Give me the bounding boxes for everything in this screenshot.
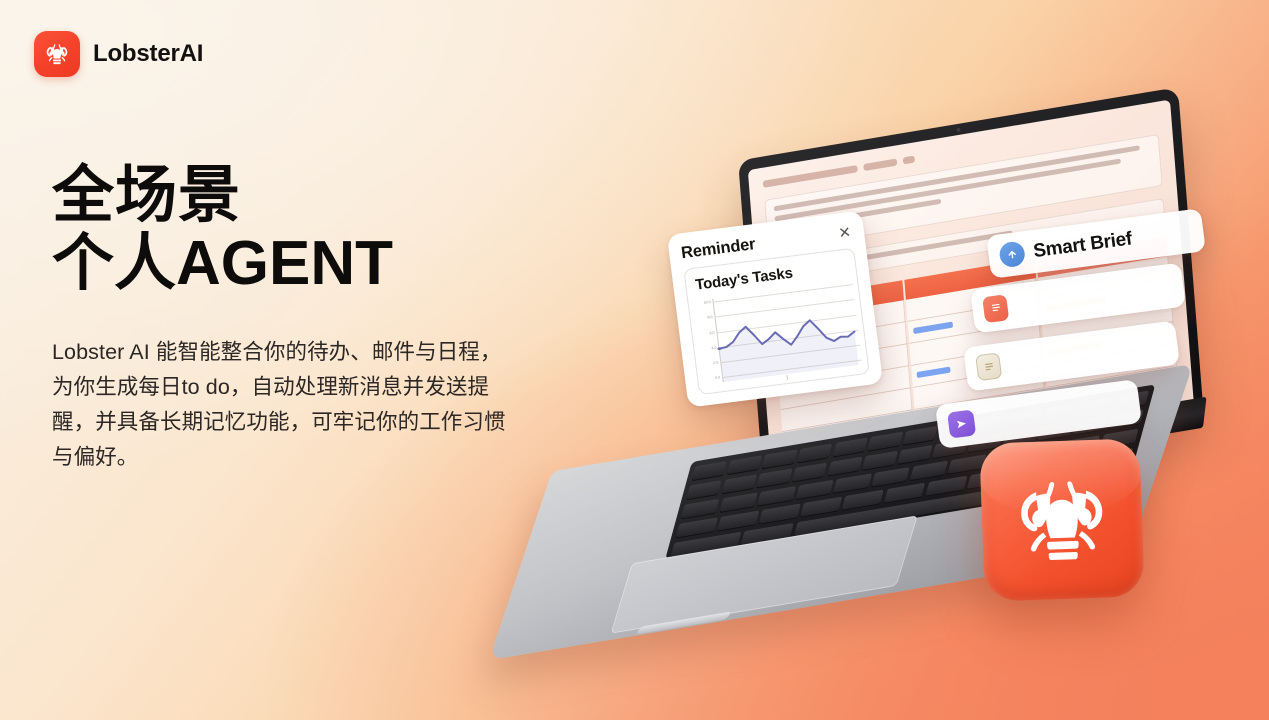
chart-panel: Today's Tasks 10.0 8.0 6.0 4.0 2.0 0.0 <box>683 248 870 396</box>
upload-circle-icon <box>998 240 1026 268</box>
notification-label: Smart Brief <box>1032 228 1133 263</box>
hero-description: Lobster AI 能智能整合你的待办、邮件与日程，为你生成每日to do，自… <box>52 335 522 474</box>
toolbar-pill <box>763 165 858 188</box>
text-line <box>774 158 1121 221</box>
toolbar-pill <box>863 158 897 171</box>
notification-text-lines <box>1010 344 1163 364</box>
status-badge <box>913 322 953 335</box>
chevron-down-icon <box>903 155 915 164</box>
send-icon <box>947 409 976 438</box>
lobster-icon <box>34 31 80 77</box>
y-tick-label: 6.0 <box>709 330 714 335</box>
y-tick-label: 2.0 <box>713 360 718 365</box>
brand-name: LobsterAI <box>93 40 203 68</box>
status-badge <box>917 366 951 378</box>
reminder-title: Reminder <box>680 235 756 263</box>
chart-series-path <box>713 282 858 382</box>
webcam-icon <box>956 128 960 133</box>
reminder-card: Reminder ✕ Today's Tasks 10.0 8.0 6.0 4.… <box>667 210 883 407</box>
hero-section: 全场景 个人AGENT Lobster AI 能智能整合你的待办、邮件与日程，为… <box>52 162 572 474</box>
headline-line-2: 个人AGENT <box>52 229 393 298</box>
document-icon <box>982 294 1009 323</box>
page-title: 全场景 个人AGENT <box>52 162 572 297</box>
lobster-app-icon[interactable] <box>979 438 1144 601</box>
laptop-device <box>500 96 1269 656</box>
close-icon[interactable]: ✕ <box>836 223 853 244</box>
brand-logo[interactable]: LobsterAI <box>34 31 203 77</box>
y-tick-label: 8.0 <box>707 315 712 320</box>
product-scene: Reminder ✕ Today's Tasks 10.0 8.0 6.0 4.… <box>500 96 1269 720</box>
notification-text-lines <box>983 403 1124 421</box>
y-tick-label: 10.0 <box>703 300 710 305</box>
note-icon <box>975 352 1002 381</box>
headline-line-1: 全场景 <box>52 161 241 230</box>
y-tick-label: 4.0 <box>711 345 716 350</box>
chart-plot-area <box>712 282 858 383</box>
y-tick-label: 0.0 <box>715 375 720 380</box>
tasks-line-chart: 10.0 8.0 6.0 4.0 2.0 0.0 <box>697 282 858 384</box>
notification-text-lines <box>1017 286 1169 306</box>
